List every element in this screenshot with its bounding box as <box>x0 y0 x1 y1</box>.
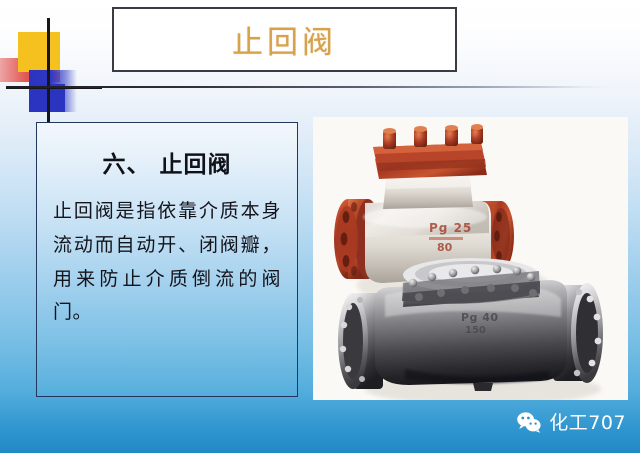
slide-title: 止回阀 <box>232 17 337 62</box>
svg-text:80: 80 <box>437 241 453 254</box>
vertical-cross-line <box>47 18 50 123</box>
content-text-panel: 六、 止回阀 止回阀是指依靠介质本身流动而自动开、闭阀瓣，用来防止介质倒流的阀门… <box>36 122 298 397</box>
slide-title-box: 止回阀 <box>112 7 457 72</box>
yellow-square <box>18 32 60 72</box>
slide-canvas: 止回阀 六、 止回阀 止回阀是指依靠介质本身流动而自动开、闭阀瓣，用来防止介质倒… <box>0 0 640 453</box>
section-heading: 六、 止回阀 <box>53 145 281 179</box>
check-valve-photograph: Pg 25 80 <box>313 117 628 400</box>
section-body-text: 止回阀是指依靠介质本身流动而自动开、闭阀瓣，用来防止介质倒流的阀门。 <box>53 195 281 330</box>
watermark-label: 化工707 <box>549 408 626 435</box>
wechat-icon <box>516 411 542 433</box>
valve-illustration: Pg 25 80 <box>313 117 628 400</box>
corner-accent-decoration <box>0 18 115 123</box>
svg-text:Pg 25: Pg 25 <box>429 221 472 235</box>
svg-text:150: 150 <box>465 325 486 336</box>
header-divider-rule <box>6 86 614 88</box>
svg-text:Pg 40: Pg 40 <box>461 311 499 324</box>
watermark: 化工707 <box>516 408 626 435</box>
